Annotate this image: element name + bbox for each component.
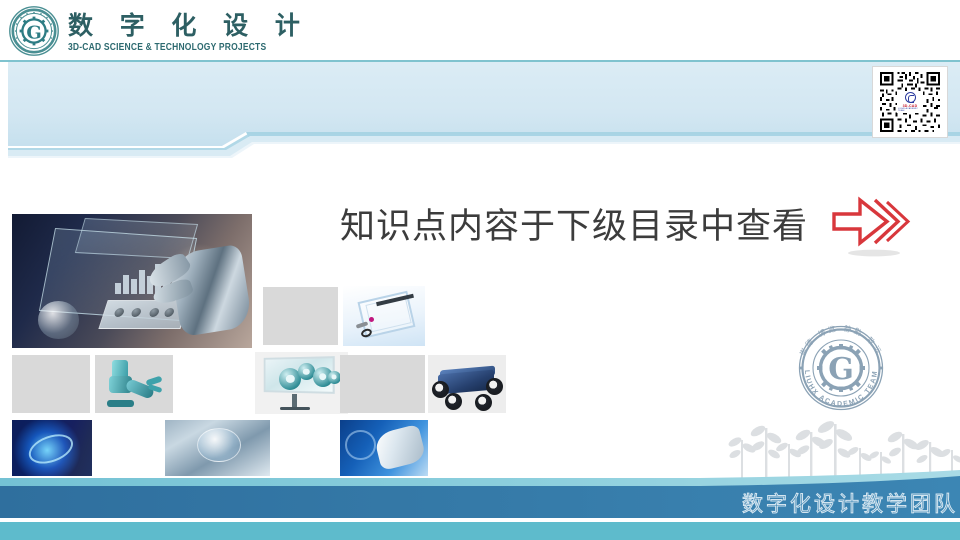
footer-title: 数字化设计教学团队 — [742, 494, 958, 515]
collage-image-cad-monitor-gears — [255, 352, 348, 414]
collage-image-automation-bubbles — [165, 420, 270, 476]
brand-subtitle: 3D-CAD SCIENCE & TECHNOLOGY PROJECTS — [68, 41, 309, 53]
qr-code-icon[interactable]: 3D-CAD LIUHX ACADEMIC TEAM — [872, 66, 948, 138]
header-bar: G 数 字 化 设 计 3D-CAD SCIENCE & TECHNOLOGY … — [0, 0, 960, 60]
collage-image-cad-linkage-frame — [343, 286, 425, 346]
slide-title-row: 知识点内容于下级目录中查看 — [340, 196, 912, 258]
slide-canvas: G 数 字 化 设 计 3D-CAD SCIENCE & TECHNOLOGY … — [0, 0, 960, 540]
collage-image-robot-hand-circuit — [340, 420, 428, 476]
gear-seal-emblem-icon: G 崇德 博览 静勤 致远 LIUHX ACADEMIC TEAM — [788, 320, 894, 412]
qr-badge-ring-icon — [905, 92, 916, 103]
brand-text: 数 字 化 设 计 3D-CAD SCIENCE & TECHNOLOGY PR… — [68, 11, 309, 50]
collage-image-blank-gray-2 — [12, 355, 90, 413]
brand-title: 数 字 化 设 计 — [68, 13, 309, 39]
gear-circle-logo-icon: G — [8, 5, 60, 57]
collage-image-blank-gray-1 — [263, 287, 338, 345]
svg-text:G: G — [26, 23, 41, 44]
qr-canvas: 3D-CAD LIUHX ACADEMIC TEAM — [876, 70, 944, 134]
top-banner — [0, 62, 960, 167]
qr-center-badge: 3D-CAD LIUHX ACADEMIC TEAM — [897, 91, 923, 113]
collage-image-teal-robot-arm — [95, 355, 173, 413]
collage-image-blank-gray-3 — [340, 355, 425, 413]
page-title: 知识点内容于下级目录中查看 — [340, 210, 808, 245]
right-arrow-outline-icon — [830, 196, 912, 258]
svg-text:G: G — [828, 352, 854, 387]
collage-image-hero-robot-hand-hud — [12, 214, 252, 348]
collage-image-blue-tech-swirl — [12, 420, 92, 476]
collage-image-blue-rover — [428, 355, 506, 413]
qr-badge-line2: LIUHX ACADEMIC TEAM — [898, 108, 922, 112]
brand: G 数 字 化 设 计 3D-CAD SCIENCE & TECHNOLOGY … — [8, 5, 309, 57]
